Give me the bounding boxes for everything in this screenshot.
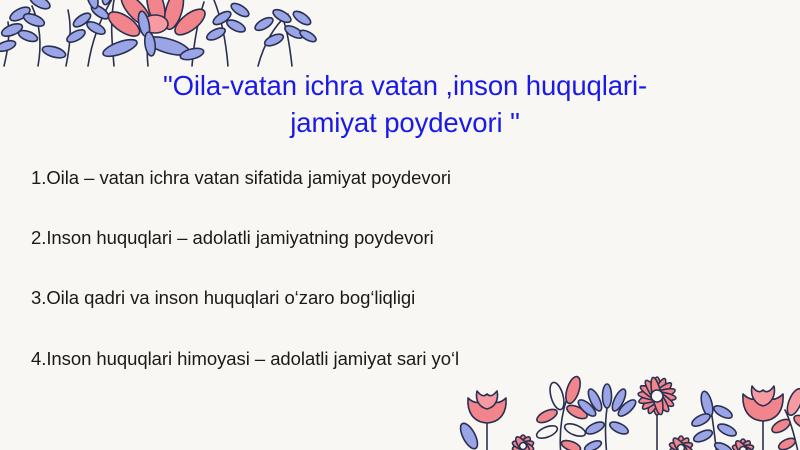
floral-border-bottom-right-icon (455, 374, 800, 450)
list-item: 2.Inson huquqlari – adolatli jamiyatning… (31, 227, 771, 249)
slide-title: "Oila-vatan ichra vatan ,inson huquqlari… (110, 68, 700, 142)
floral-border-top-left-icon (0, 0, 316, 66)
list-item: 1.Oila – vatan ichra vatan sifatida jami… (31, 167, 771, 189)
slide-canvas: "Oila-vatan ichra vatan ,inson huquqlari… (0, 0, 800, 450)
list-item: 4.Inson huquqlari himoyasi – adolatli ja… (31, 348, 771, 370)
slide-title-block: "Oila-vatan ichra vatan ,inson huquqlari… (110, 68, 700, 142)
list-item: 3.Oila qadri va inson huquqlari o‘zaro b… (31, 287, 771, 309)
slide-body-list: 1.Oila – vatan ichra vatan sifatida jami… (31, 167, 771, 370)
